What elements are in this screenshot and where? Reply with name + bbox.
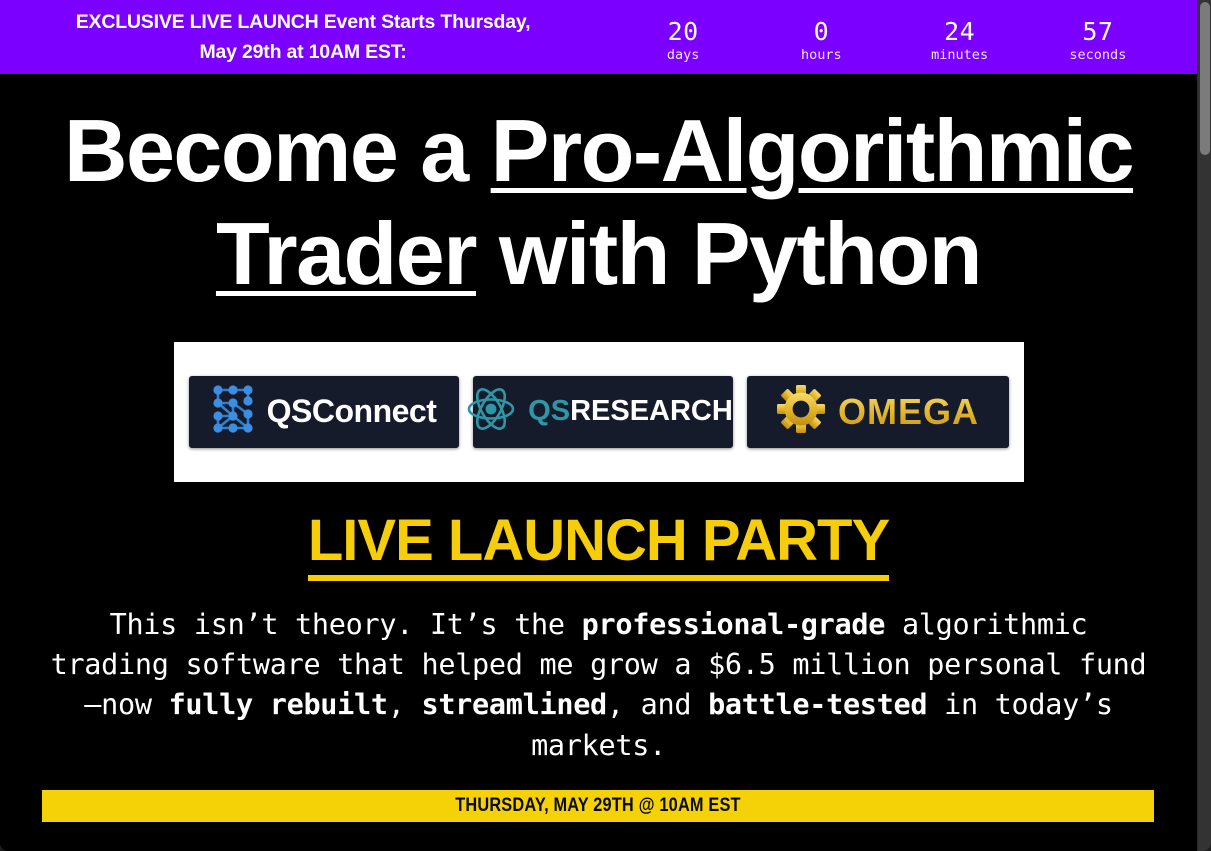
body-segment-3: , (388, 688, 422, 721)
event-datetime-cta-bar[interactable]: THURSDAY, MAY 29TH @ 10AM EST (42, 790, 1154, 822)
countdown-unit-days: 20 days (646, 17, 720, 63)
logo-label-qsresearch-rest: RESEARCH (570, 395, 733, 427)
announcement-line-1: EXCLUSIVE LIVE LAUNCH Event Starts Thurs… (6, 7, 600, 37)
hero-title-prefix: Become a (64, 101, 491, 200)
brand-logo-strip: QSConnect QSRESEARCH (174, 342, 1024, 482)
body-paragraph: This isn’t theory. It’s the professional… (44, 605, 1154, 767)
countdown-days-label: days (646, 47, 720, 63)
event-datetime-label: THURSDAY, MAY 29TH @ 10AM EST (455, 795, 740, 817)
countdown-minutes-value: 24 (923, 17, 997, 47)
hero-section: Become a Pro-Algorithmic Trader with Pyt… (0, 74, 1197, 306)
page-title: Become a Pro-Algorithmic Trader with Pyt… (40, 100, 1157, 306)
logo-card-omega: OMEGA (747, 376, 1009, 448)
logo-label-qsresearch-qs: QS (528, 395, 570, 427)
announcement-line-2: May 29th at 10AM EST: (6, 37, 600, 67)
body-bold-streamlined: streamlined (421, 688, 606, 721)
countdown-timer: 20 days 0 hours 24 minutes 57 seconds (600, 11, 1187, 63)
body-bold-professional-grade: professional-grade (582, 608, 885, 641)
body-segment-4: , and (607, 688, 708, 721)
browser-viewport: EXCLUSIVE LIVE LAUNCH Event Starts Thurs… (0, 0, 1211, 851)
body-segment-1: This isn’t theory. It’s the (110, 608, 582, 641)
countdown-seconds-value: 57 (1061, 17, 1135, 47)
landing-page: EXCLUSIVE LIVE LAUNCH Event Starts Thurs… (0, 0, 1197, 851)
countdown-unit-hours: 0 hours (784, 17, 858, 63)
countdown-minutes-label: minutes (923, 47, 997, 63)
countdown-unit-seconds: 57 seconds (1061, 17, 1135, 63)
live-launch-party-section: LIVE LAUNCH PARTY (0, 510, 1197, 581)
logo-label-qsresearch: QSRESEARCH (528, 395, 733, 428)
atom-icon (466, 384, 516, 439)
countdown-hours-label: hours (784, 47, 858, 63)
logo-label-qsconnect: QSConnect (267, 393, 437, 430)
body-bold-fully-rebuilt: fully rebuilt (169, 688, 388, 721)
section-heading-live-launch-party: LIVE LAUNCH PARTY (308, 510, 889, 581)
countdown-unit-minutes: 24 minutes (923, 17, 997, 63)
scrollbar-thumb[interactable] (1200, 2, 1210, 155)
vertical-scrollbar[interactable] (1197, 0, 1211, 851)
announcement-bar: EXCLUSIVE LIVE LAUNCH Event Starts Thurs… (0, 0, 1197, 74)
countdown-seconds-label: seconds (1061, 47, 1135, 63)
body-bold-battle-tested: battle-tested (708, 688, 927, 721)
announcement-text: EXCLUSIVE LIVE LAUNCH Event Starts Thurs… (0, 7, 600, 67)
countdown-days-value: 20 (646, 17, 720, 47)
gear-icon (776, 384, 826, 439)
countdown-hours-value: 0 (784, 17, 858, 47)
hero-title-suffix: with Python (476, 204, 981, 303)
logo-label-omega: OMEGA (838, 391, 979, 433)
logo-card-qsresearch: QSRESEARCH (473, 376, 733, 448)
logo-card-qsconnect: QSConnect (189, 376, 459, 448)
network-nodes-icon (211, 383, 255, 440)
